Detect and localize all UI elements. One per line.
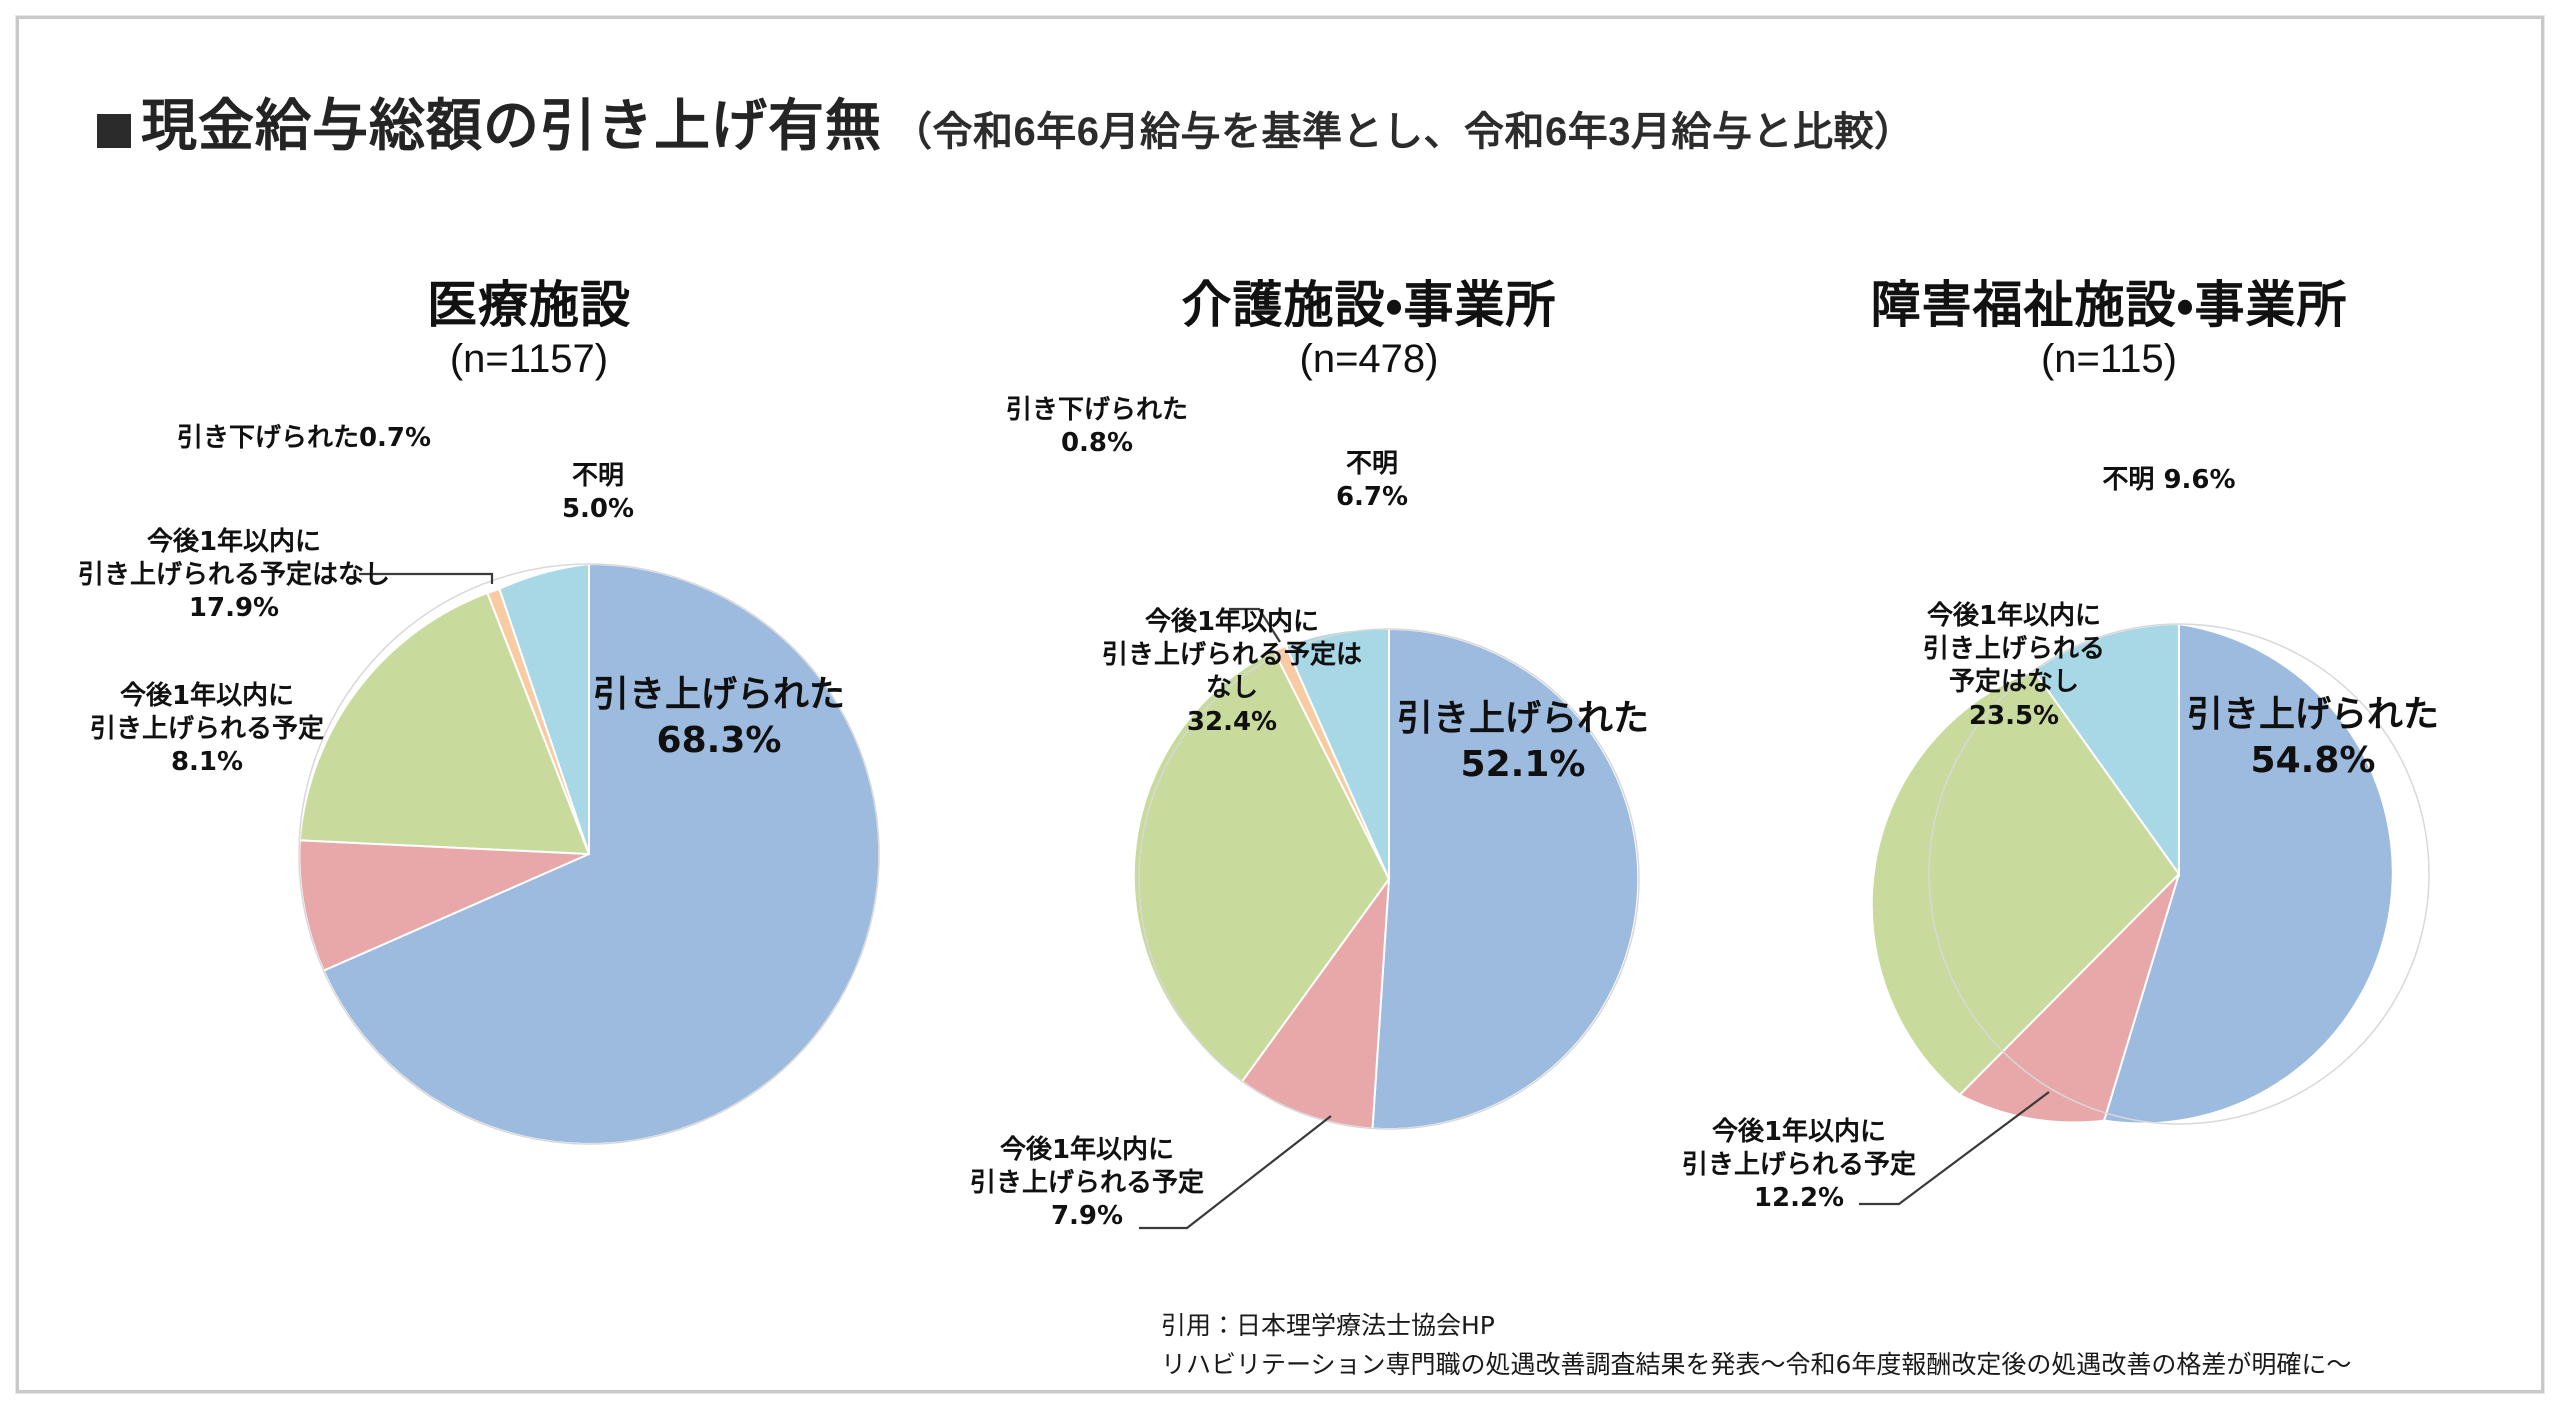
chart-heading-medical: 医療施設 (n=1157) (129, 277, 929, 382)
chart-panel-nursing: 介護施設・事業所 (n=478) (959, 277, 1779, 1234)
source-line-1: 引用：日本理学療法士協会HP (1161, 1307, 2351, 1346)
chart-sample-size-disability: (n=115) (1699, 337, 2519, 382)
source-citation: 引用：日本理学療法士協会HP リハビリテーション専門職の処遇改善調査結果を発表～… (1161, 1307, 2351, 1385)
pie-label-planned-disability: 今後1年以内に 引き上げられる予定 12.2% (1649, 1116, 1949, 1216)
source-line-2: リハビリテーション専門職の処遇改善調査結果を発表～令和6年度報酬改定後の処遇改善… (1161, 1346, 2351, 1385)
chart-heading-disability: 障害福祉施設・事業所 (n=115) (1699, 277, 2519, 382)
chart-panel-medical: 医療施設 (n=1157) (129, 277, 929, 1224)
pie-label-raised-disability: 引き上げられた 54.8% (2163, 692, 2463, 784)
pie-chart-medical: 引き下げられた0.7% 今後1年以内に 引き上げられる予定はなし 17.9% 今… (129, 404, 929, 1224)
pie-label-unknown-disability: 不明 9.6% (2059, 464, 2279, 497)
pie-label-planned-medical: 今後1年以内に 引き上げられる予定 8.1% (57, 680, 357, 780)
slide-page: 現金給与総額の引き上げ有無 （令和6年6月給与を基準とし、令和6年3月給与と比較… (0, 0, 2560, 1409)
chart-title-disability: 障害福祉施設・事業所 (1699, 277, 2519, 333)
pie-label-raised-nursing: 引き上げられた 52.1% (1373, 696, 1673, 788)
pie-label-not-planned-medical: 今後1年以内に 引き上げられる予定はなし 17.9% (69, 526, 399, 626)
pie-label-raised-medical: 引き上げられた 68.3% (569, 672, 869, 764)
pie-label-unknown-nursing: 不明 6.7% (1307, 448, 1437, 515)
chart-panel-disability: 障害福祉施設・事業所 (n=115) (1699, 277, 2519, 1234)
chart-heading-nursing: 介護施設・事業所 (n=478) (959, 277, 1779, 382)
square-bullet-icon (97, 114, 131, 148)
pie-svg-nursing (959, 404, 1779, 1234)
pie-svg-disability (1699, 404, 2519, 1234)
title-main-text: 現金給与総額の引き上げ有無 (141, 81, 882, 162)
pie-label-planned-nursing: 今後1年以内に 引き上げられる予定 7.9% (937, 1134, 1237, 1234)
chart-title-nursing: 介護施設・事業所 (959, 277, 1779, 333)
pie-label-not-planned-disability: 今後1年以内に 引き上げられる 予定はなし 23.5% (1869, 600, 2159, 733)
chart-title-medical: 医療施設 (129, 277, 929, 333)
pie-label-not-planned-nursing: 今後1年以内に 引き上げられる予定は なし 32.4% (1087, 606, 1377, 739)
chart-sample-size-nursing: (n=478) (959, 337, 1779, 382)
pie-label-unknown-medical: 不明 5.0% (543, 460, 653, 527)
page-title: 現金給与総額の引き上げ有無 （令和6年6月給与を基準とし、令和6年3月給与と比較… (97, 81, 1914, 162)
pie-label-lowered-medical: 引き下げられた0.7% (124, 422, 484, 455)
pie-label-lowered-nursing: 引き下げられた 0.8% (967, 394, 1227, 461)
title-sub-text: （令和6年6月給与を基準とし、令和6年3月給与と比較） (892, 99, 1914, 157)
pie-chart-nursing: 引き下げられた 0.8% 不明 6.7% 今後1年以内に 引き上げられる予定は … (959, 404, 1779, 1234)
slide-frame: 現金給与総額の引き上げ有無 （令和6年6月給与を基準とし、令和6年3月給与と比較… (16, 16, 2544, 1393)
chart-sample-size-medical: (n=1157) (129, 337, 929, 382)
pie-chart-disability: 不明 9.6% 今後1年以内に 引き上げられる 予定はなし 23.5% 引き上げ… (1699, 404, 2519, 1234)
